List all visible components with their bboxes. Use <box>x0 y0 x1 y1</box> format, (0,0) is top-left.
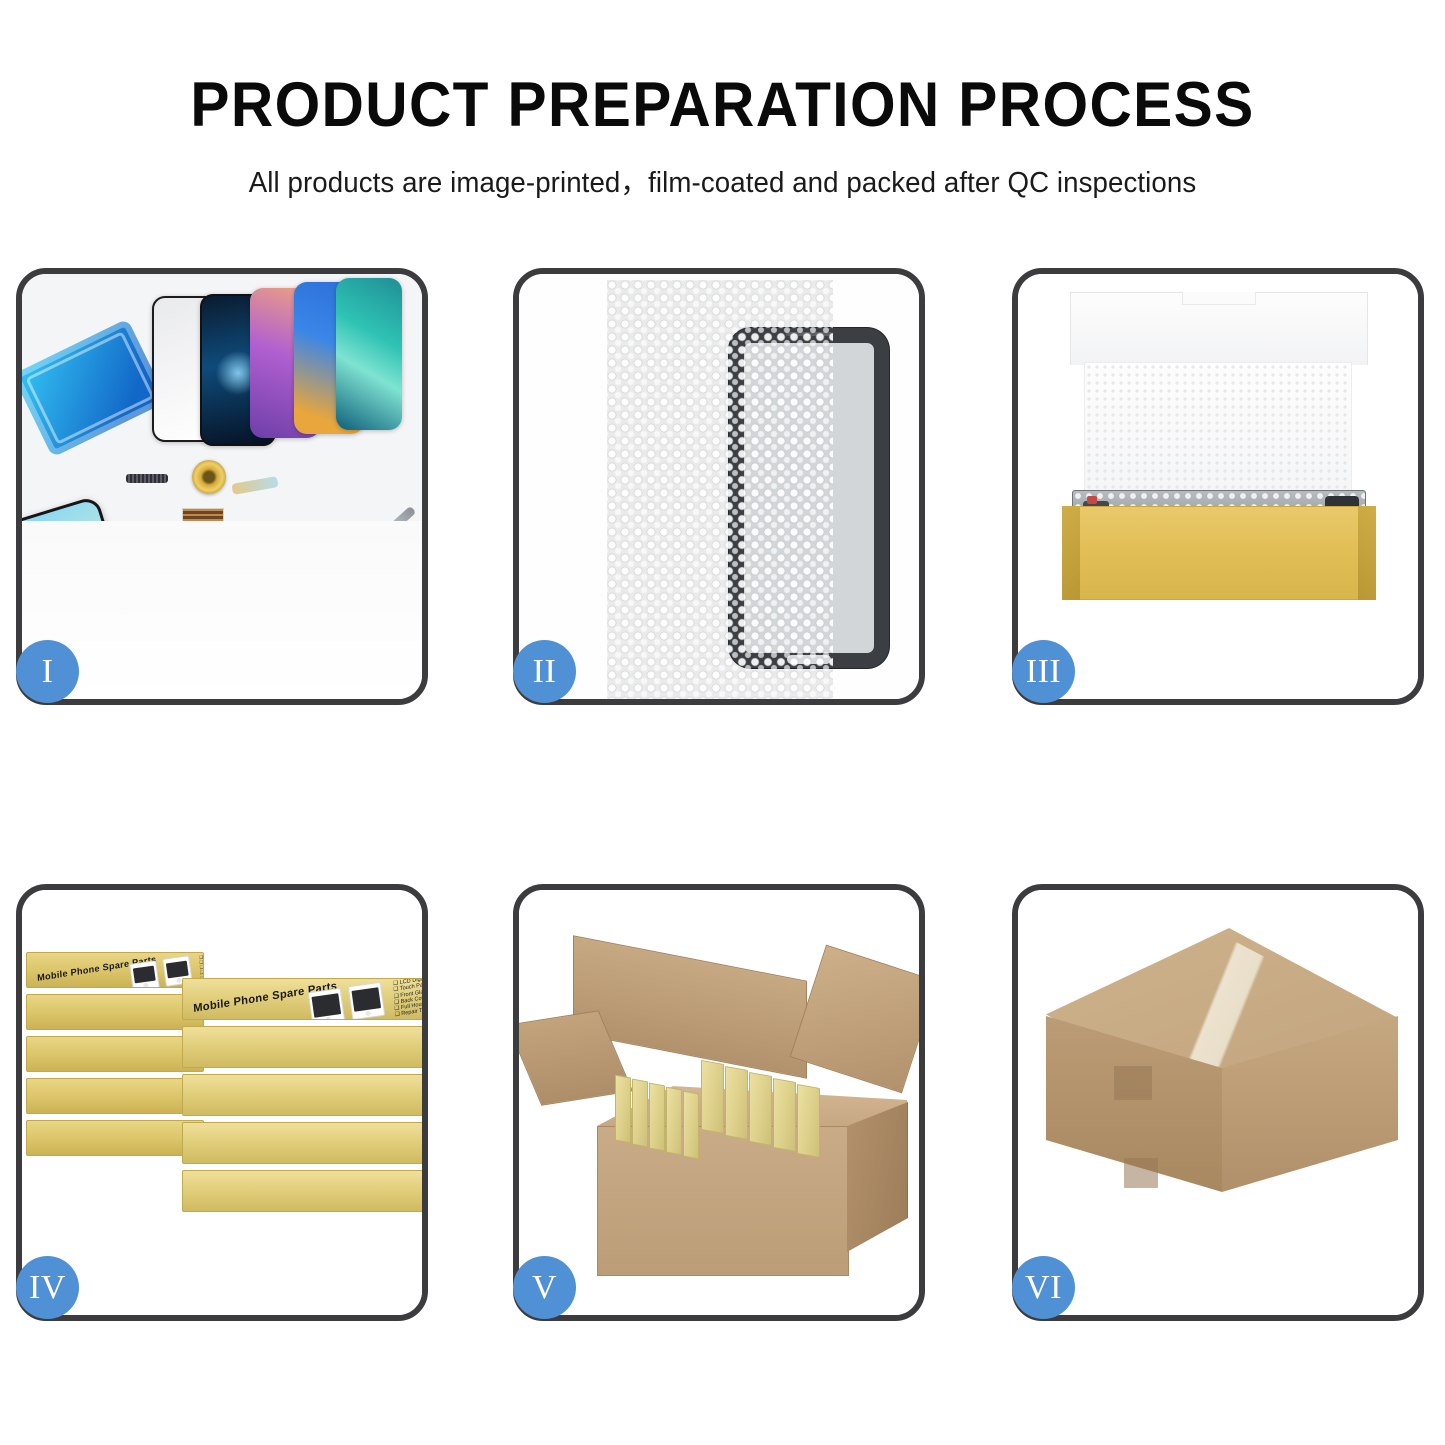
process-step-6: VI <box>1012 884 1424 1321</box>
stacked-box <box>26 1120 204 1156</box>
box-art-phone-left <box>129 960 160 987</box>
spare-parts-collage <box>22 274 422 699</box>
box-printed-label: Mobile Phone Spare Parts❑ LCD Digitizer … <box>183 979 422 1019</box>
taptic-engine-icon <box>180 586 212 608</box>
carton-inner-box <box>649 1083 665 1152</box>
carton-flap-right <box>790 945 919 1094</box>
flex-cable-d <box>235 525 288 543</box>
bubble-texture-overlay <box>607 280 833 699</box>
screwdriver-icon <box>372 506 417 547</box>
carton-inner-box <box>773 1078 796 1152</box>
stacked-box <box>182 1026 422 1068</box>
step-badge-2: II <box>513 640 576 703</box>
carton-inner-box <box>797 1084 820 1158</box>
stacked-box: Mobile Phone Spare Parts❑ LCD Digitizer … <box>182 978 422 1020</box>
stacked-box <box>182 1122 422 1164</box>
step-badge-3: III <box>1012 640 1075 703</box>
step-1-image <box>22 274 422 699</box>
carton-inner-box <box>666 1087 682 1156</box>
foam-padding <box>1084 362 1352 510</box>
process-step-4: Mobile Phone Spare Parts❑ LCD Digitizer … <box>16 884 428 1321</box>
flex-cable-b <box>143 551 190 590</box>
page-subtitle: All products are image-printed，film-coat… <box>22 160 1424 201</box>
inner-box-scene <box>1018 274 1418 699</box>
stacked-box <box>182 1074 422 1116</box>
yellow-box-front <box>1062 506 1376 600</box>
header: PRODUCT PREPARATION PROCESS All products… <box>0 0 1445 201</box>
hand-holding-tool <box>347 562 422 671</box>
process-step-3: III <box>1012 268 1424 705</box>
open-carton-scene <box>519 890 919 1315</box>
bubble-wrap-sheet <box>607 280 833 699</box>
wireless-coil-icon <box>192 460 226 494</box>
step-6-image <box>1018 890 1418 1315</box>
chip-grid-icon <box>182 508 224 550</box>
box-checklist: ❑ LCD Digitizer ❑ Touch Panel ❑ Front Gl… <box>393 979 422 1019</box>
step-badge-4: IV <box>16 1256 79 1319</box>
stacked-box <box>26 994 204 1030</box>
step-badge-6: VI <box>1012 1256 1075 1319</box>
carton-inner-box <box>683 1091 699 1160</box>
carton-tab-lower <box>1124 1158 1158 1188</box>
bubble-wrap-scene <box>519 274 919 699</box>
process-grid: I II <box>0 268 1445 1328</box>
process-step-5: V <box>513 884 925 1321</box>
carton-inner-box <box>632 1079 648 1148</box>
carton-tab-upper <box>1114 1066 1152 1100</box>
flex-cable-c <box>231 476 278 495</box>
screws-icon <box>382 626 408 636</box>
stacked-box: Mobile Phone Spare Parts❑ LCD Digitizer … <box>26 952 204 988</box>
stacked-box <box>26 1078 204 1114</box>
stacked-box <box>26 1036 204 1072</box>
carton-inner-box <box>615 1075 631 1144</box>
camera-module-icon <box>226 574 244 592</box>
infographic-page: PRODUCT PREPARATION PROCESS All products… <box>0 0 1445 1445</box>
process-step-2: II <box>513 268 925 705</box>
carton-inner-box <box>725 1066 748 1140</box>
step-2-image <box>519 274 919 699</box>
stacked-box <box>182 1170 422 1212</box>
step-badge-5: V <box>513 1256 576 1319</box>
flex-cable-a <box>140 533 189 550</box>
step-3-image <box>1018 274 1418 699</box>
process-step-1: I <box>16 268 428 705</box>
box-lid-flap <box>1070 292 1368 365</box>
page-title: PRODUCT PREPARATION PROCESS <box>51 72 1395 138</box>
step-badge-1: I <box>16 640 79 703</box>
carton-inner-box <box>749 1072 772 1146</box>
sealed-carton-scene <box>1018 890 1418 1315</box>
box-printed-label: Mobile Phone Spare Parts❑ LCD Digitizer … <box>27 953 203 987</box>
box-art-phone-right <box>348 982 385 1019</box>
sim-tray-icon <box>130 592 145 620</box>
step-5-image <box>519 890 919 1315</box>
chip-icon-1 <box>194 564 220 577</box>
carton-inner-box <box>701 1060 724 1134</box>
adhesive-frame-icon <box>22 319 168 458</box>
box-stack-scene: Mobile Phone Spare Parts❑ LCD Digitizer … <box>22 890 422 1315</box>
phone-display-teal <box>336 278 402 430</box>
opened-back-housing <box>229 531 395 685</box>
carton-side-face <box>847 1102 908 1252</box>
speaker-grille-icon <box>126 474 168 483</box>
box-art-phone-left <box>308 988 345 1019</box>
step-4-image: Mobile Phone Spare Parts❑ LCD Digitizer … <box>22 890 422 1315</box>
